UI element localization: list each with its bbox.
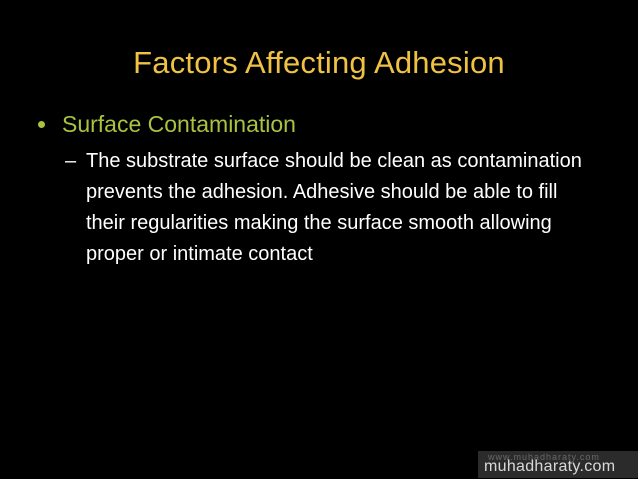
bullet-dot-icon	[38, 121, 45, 128]
en-dash-icon: –	[65, 146, 76, 177]
bullet-item-level2: – The substrate surface should be clean …	[0, 146, 638, 270]
bullet-level1-label: Surface Contamination	[62, 111, 296, 137]
slide-canvas: Factors Affecting Adhesion Surface Conta…	[0, 0, 638, 479]
bullet-level2-label: The substrate surface should be clean as…	[86, 146, 600, 270]
watermark: www.muhadharaty.com muhadharaty.com	[478, 451, 638, 478]
page-title: Factors Affecting Adhesion	[0, 44, 638, 82]
slide-body: Surface Contamination – The substrate su…	[0, 108, 638, 270]
watermark-domain-label: muhadharaty.com	[484, 457, 615, 477]
bullet-item-level1: Surface Contamination	[0, 108, 638, 140]
